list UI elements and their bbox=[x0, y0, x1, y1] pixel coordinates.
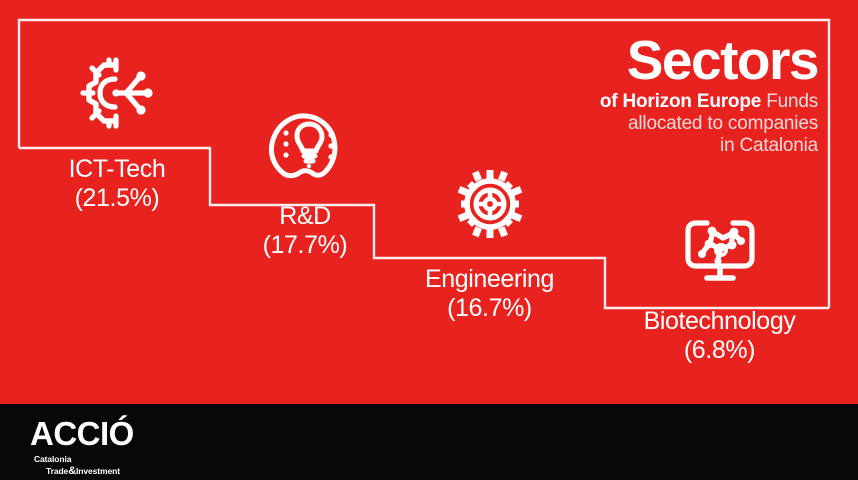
sector-label: R&D bbox=[215, 202, 395, 231]
accio-tagline: Catalonia Trade&Investment bbox=[34, 455, 134, 477]
title-subtitle-3: in Catalonia bbox=[600, 136, 818, 155]
accio-logo[interactable]: ACCIÓ Catalonia Trade&Investment bbox=[30, 417, 134, 477]
accio-wordmark: ACCIÓ bbox=[30, 417, 134, 450]
monitor-molecule-icon bbox=[612, 210, 827, 295]
sector-label: Biotechnology bbox=[612, 307, 827, 336]
cogwheel-icon bbox=[382, 160, 597, 253]
accio-tagline-investment: Investment bbox=[76, 466, 120, 476]
title-sub-bold: of Horizon Europe bbox=[600, 91, 761, 112]
accio-tagline-trade: Trade bbox=[46, 466, 68, 476]
sector-biotechnology: Biotechnology (6.8%) bbox=[612, 210, 827, 365]
title-subtitle-2: allocated to companies bbox=[600, 114, 818, 133]
title-subtitle-1: of Horizon Europe Funds bbox=[600, 92, 818, 111]
sector-percent: (16.7%) bbox=[382, 294, 597, 323]
accio-tagline-line1: Catalonia bbox=[34, 454, 71, 464]
accio-tagline-line2: Trade&Investment bbox=[46, 465, 134, 477]
page-title: Sectors of Horizon Europe Funds allocate… bbox=[600, 34, 818, 155]
sector-percent: (21.5%) bbox=[22, 184, 212, 213]
sector-percent: (6.8%) bbox=[612, 336, 827, 365]
sector-percent: (17.7%) bbox=[215, 231, 395, 260]
sector-ict-tech: ICT-Tech (21.5%) bbox=[22, 50, 212, 213]
sector-rd: R&D (17.7%) bbox=[215, 105, 395, 260]
sector-engineering: Engineering (16.7%) bbox=[382, 160, 597, 323]
infographic-canvas: Sectors of Horizon Europe Funds allocate… bbox=[0, 0, 858, 480]
title-main: Sectors bbox=[600, 34, 818, 86]
head-lightbulb-icon bbox=[215, 105, 395, 190]
sector-label: Engineering bbox=[382, 265, 597, 294]
sector-label: ICT-Tech bbox=[22, 155, 212, 184]
footer-bar: ACCIÓ Catalonia Trade&Investment General… bbox=[0, 404, 858, 480]
accio-tagline-amp: & bbox=[68, 465, 76, 477]
gear-circuit-icon bbox=[22, 50, 212, 141]
title-sub-light: Funds bbox=[761, 91, 818, 112]
